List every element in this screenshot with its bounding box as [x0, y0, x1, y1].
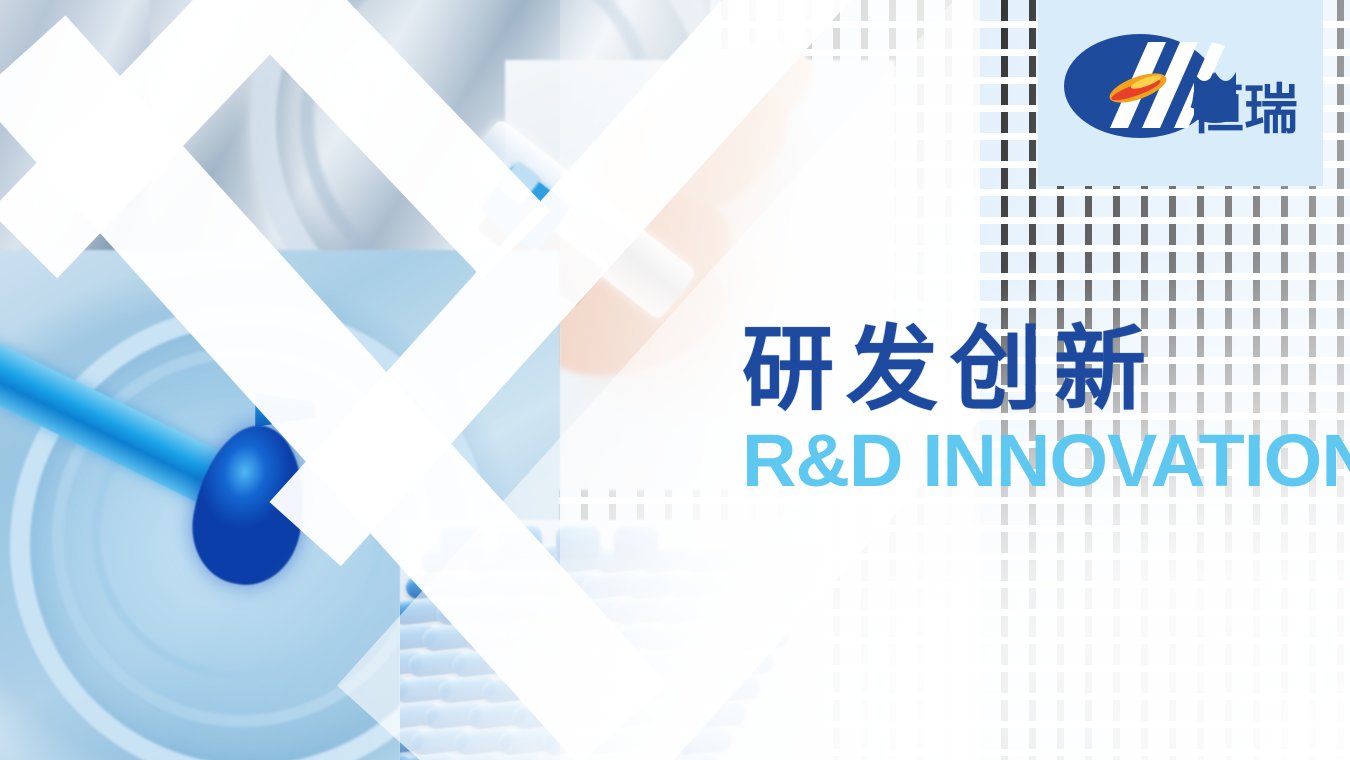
- headline-title-en: R&D INNOVATION: [742, 424, 1350, 498]
- headline-title-cn: 研发创新: [742, 322, 1342, 418]
- headline-block: 研发创新 R&D INNOVATION: [742, 322, 1342, 498]
- logo-brand-text: 恒瑞: [1190, 78, 1298, 141]
- hengrui-logo[interactable]: 恒瑞: [1062, 24, 1307, 164]
- rd-innovation-banner: 恒瑞 研发创新 R&D INNOVATION: [0, 0, 1350, 760]
